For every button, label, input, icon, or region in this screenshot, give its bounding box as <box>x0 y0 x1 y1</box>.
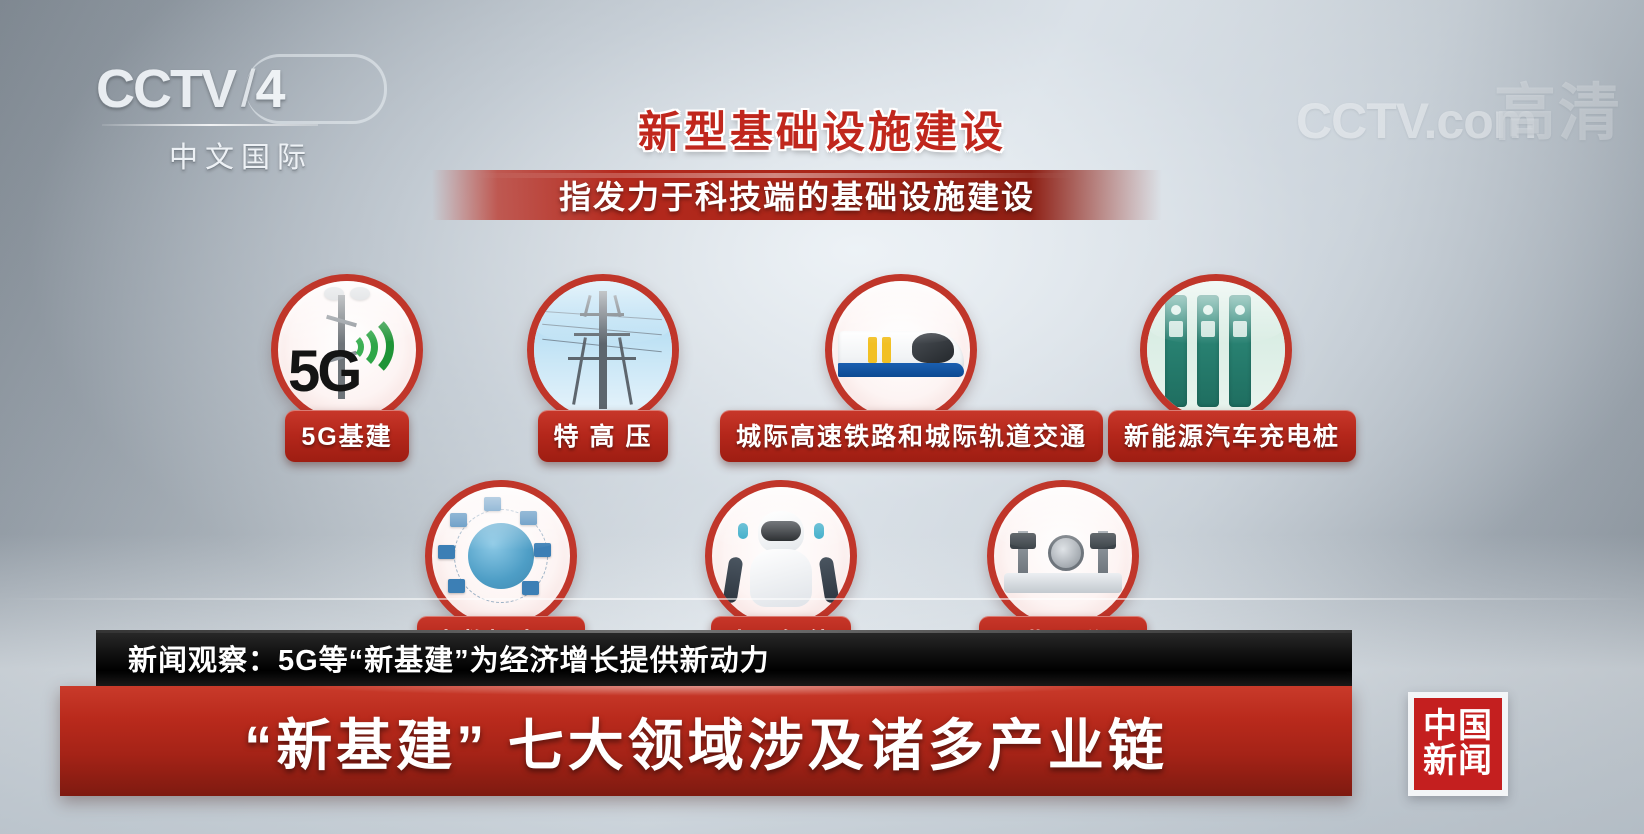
graphic-subtitle-bar: 指发力于科技端的基础设施建设 <box>432 170 1162 220</box>
news-ticker-text: 新闻观察：5G等“新基建”为经济增长提供新动力 <box>96 637 770 679</box>
high-speed-train-icon <box>825 274 977 426</box>
category-label-uhv: 特 高 压 <box>538 410 669 462</box>
category-label-intercity-rail: 城际高速铁路和城际轨道交通 <box>720 410 1103 462</box>
data-globe-icon <box>425 480 577 632</box>
headline-text: “新基建” 七大领域涉及诸多产业链 <box>244 701 1168 782</box>
5g-tower-icon: 5G <box>271 274 423 426</box>
ev-charging-pile-icon <box>1140 274 1292 426</box>
category-label-ev-charging: 新能源汽车充电桩 <box>1108 410 1356 462</box>
headline-banner: “新基建” 七大领域涉及诸多产业链 <box>60 686 1352 796</box>
subtitle-bar-highlight <box>476 173 1075 178</box>
category-uhv[interactable]: 特 高 压 <box>508 274 698 462</box>
graphic-title: 新型基础设施建设 <box>0 98 1644 160</box>
industrial-machine-icon <box>987 480 1139 632</box>
news-ticker-bar: 新闻观察：5G等“新基建”为经济增长提供新动力 <box>96 630 1352 686</box>
category-5g[interactable]: 5G 5G基建 <box>252 274 442 462</box>
pylon-structure <box>602 291 604 411</box>
program-logo: 中国 新闻 <box>1408 692 1508 796</box>
program-logo-line1: 中国 <box>1423 709 1493 744</box>
power-pylon-icon <box>527 274 679 426</box>
ai-robot-icon <box>705 480 857 632</box>
category-intercity-rail[interactable]: 城际高速铁路和城际轨道交通 <box>720 274 1082 462</box>
category-label-5g: 5G基建 <box>285 410 408 462</box>
program-logo-line2: 新闻 <box>1423 744 1493 779</box>
graphic-subtitle: 指发力于科技端的基础设施建设 <box>559 172 1035 218</box>
broadcast-screen: CCTV / 4 中文国际 CCTV.com 高清 新型基础设施建设 指发力于科… <box>0 0 1644 834</box>
category-ev-charging[interactable]: 新能源汽车充电桩 <box>1108 274 1324 462</box>
